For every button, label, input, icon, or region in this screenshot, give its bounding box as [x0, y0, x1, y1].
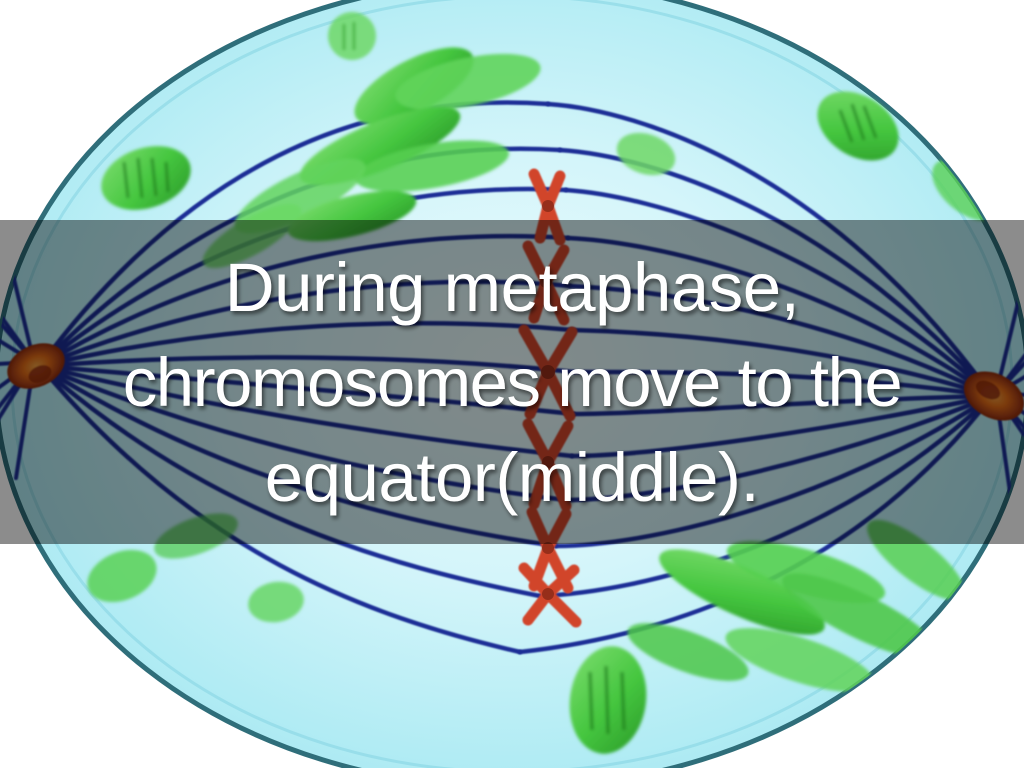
chloroplast — [328, 12, 376, 60]
slide-canvas: During metaphase, chromosomes move to th… — [0, 0, 1024, 768]
caption-text: During metaphase, chromosomes move to th… — [0, 240, 1024, 525]
caption-line-2: chromosomes move to the — [6, 335, 1018, 430]
caption-line-3: equator(middle). — [6, 430, 1018, 525]
caption-overlay-band: During metaphase, chromosomes move to th… — [0, 220, 1024, 544]
caption-line-1: During metaphase, — [6, 240, 1018, 335]
